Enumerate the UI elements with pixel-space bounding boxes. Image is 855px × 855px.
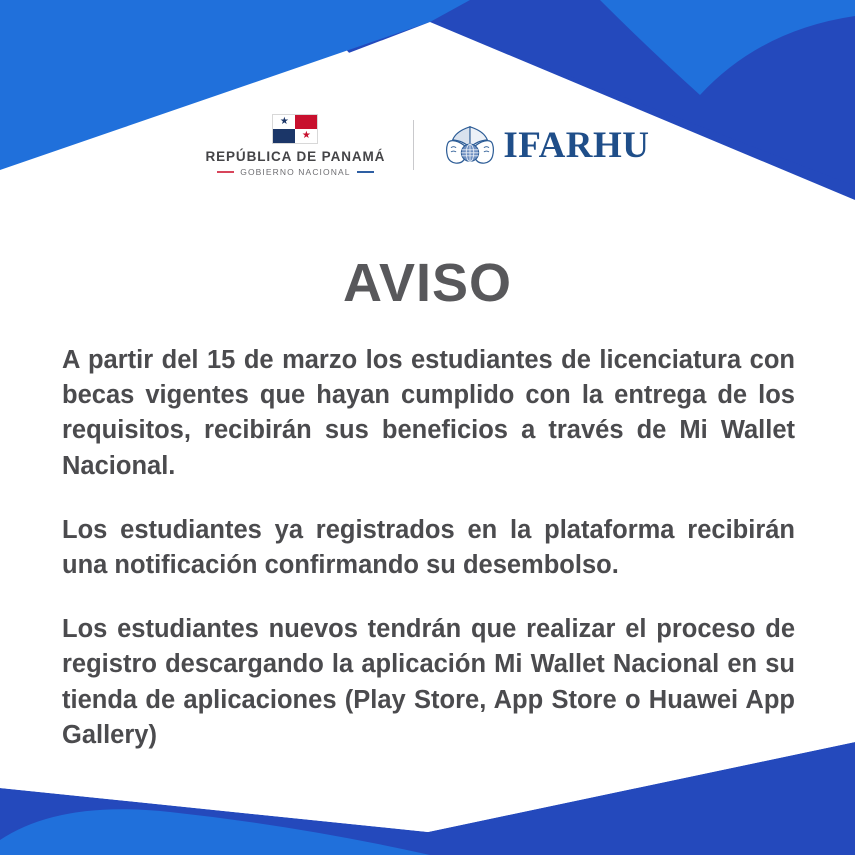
- notice-body: A partir del 15 de marzo los estudiantes…: [62, 343, 795, 753]
- gov-subtitle: GOBIERNO NACIONAL: [240, 167, 350, 177]
- aviso-poster: ★ ★ REPÚBLICA DE PANAMÁ GOBIERNO NACIONA…: [0, 0, 855, 855]
- notice-paragraph-1: A partir del 15 de marzo los estudiantes…: [62, 343, 795, 484]
- dash-blue-icon: [357, 171, 374, 173]
- page-title: AVISO: [0, 252, 855, 314]
- flag-quadrant-top-left: ★: [273, 115, 295, 129]
- ifarhu-logo: IFARHU: [414, 123, 649, 167]
- ifarhu-book-globe-icon: [444, 123, 496, 167]
- flag-quadrant-bottom-right: ★: [295, 129, 317, 143]
- government-of-panama-logo: ★ ★ REPÚBLICA DE PANAMÁ GOBIERNO NACIONA…: [205, 114, 413, 177]
- gov-title: REPÚBLICA DE PANAMÁ: [205, 149, 385, 164]
- notice-paragraph-2: Los estudiantes ya registrados en la pla…: [62, 513, 795, 583]
- top-right-rounded-dark-shape: [560, 0, 855, 115]
- bottom-dark-blue-chevron: [0, 742, 855, 855]
- ifarhu-wordmark: IFARHU: [503, 127, 649, 164]
- bottom-left-rounded-light-shape: [0, 809, 430, 855]
- header-logo-row: ★ ★ REPÚBLICA DE PANAMÁ GOBIERNO NACIONA…: [0, 110, 855, 180]
- flag-quadrant-top-right: [295, 115, 317, 129]
- flag-star-red: ★: [302, 131, 311, 141]
- gov-subtitle-row: GOBIERNO NACIONAL: [217, 167, 373, 177]
- top-right-bright-curve: [600, 0, 855, 95]
- panama-flag-icon: ★ ★: [272, 114, 318, 144]
- flag-star-blue: ★: [280, 117, 289, 127]
- flag-quadrant-bottom-left: [273, 129, 295, 143]
- notice-paragraph-3: Los estudiantes nuevos tendrán que reali…: [62, 612, 795, 753]
- dash-red-icon: [217, 171, 234, 173]
- bottom-bright-blue-right: [420, 745, 855, 855]
- bottom-bright-blue-shape: [0, 760, 855, 855]
